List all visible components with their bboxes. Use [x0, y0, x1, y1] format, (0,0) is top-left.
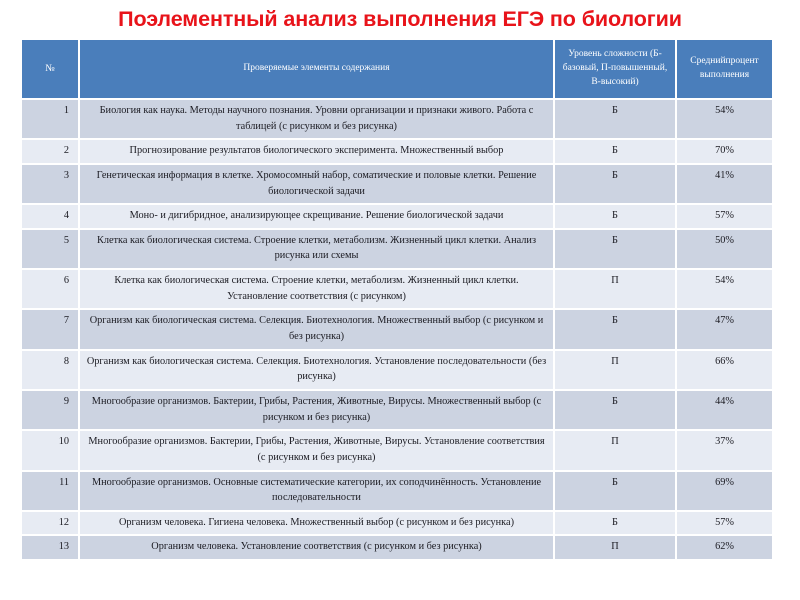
average-percent-cell: 54%: [677, 100, 772, 138]
table-row: 13Организм человека. Установление соотве…: [22, 536, 772, 559]
row-number-cell: 10: [22, 431, 78, 469]
difficulty-level-cell: Б: [555, 165, 675, 203]
table-body: 1Биология как наука. Методы научного поз…: [22, 100, 772, 559]
average-percent-cell: 44%: [677, 391, 772, 429]
content-element-cell: Прогнозирование результатов биологическо…: [80, 140, 553, 163]
analysis-table-container: № Проверяемые элементы содержания Уровен…: [20, 38, 772, 561]
table-row: 3Генетическая информация в клетке. Хромо…: [22, 165, 772, 203]
content-element-cell: Генетическая информация в клетке. Хромос…: [80, 165, 553, 203]
row-number-cell: 7: [22, 310, 78, 348]
average-percent-cell: 50%: [677, 230, 772, 268]
column-header-difficulty-level: Уровень сложности (Б-базовый, П-повышенн…: [555, 40, 675, 98]
row-number-cell: 8: [22, 351, 78, 389]
content-element-cell: Многообразие организмов. Бактерии, Грибы…: [80, 391, 553, 429]
row-number-cell: 2: [22, 140, 78, 163]
table-row: 5Клетка как биологическая система. Строе…: [22, 230, 772, 268]
content-element-cell: Многообразие организмов. Основные систем…: [80, 472, 553, 510]
column-header-content-elements: Проверяемые элементы содержания: [80, 40, 553, 98]
page-title: Поэлементный анализ выполнения ЕГЭ по би…: [0, 0, 800, 32]
difficulty-level-cell: Б: [555, 310, 675, 348]
average-percent-cell: 57%: [677, 512, 772, 535]
row-number-cell: 11: [22, 472, 78, 510]
content-element-cell: Организм человека. Гигиена человека. Мно…: [80, 512, 553, 535]
content-element-cell: Клетка как биологическая система. Строен…: [80, 270, 553, 308]
table-row: 2Прогнозирование результатов биологическ…: [22, 140, 772, 163]
average-percent-cell: 57%: [677, 205, 772, 228]
row-number-cell: 5: [22, 230, 78, 268]
table-row: 6Клетка как биологическая система. Строе…: [22, 270, 772, 308]
row-number-cell: 3: [22, 165, 78, 203]
average-percent-cell: 37%: [677, 431, 772, 469]
analysis-table: № Проверяемые элементы содержания Уровен…: [20, 38, 774, 561]
average-percent-cell: 41%: [677, 165, 772, 203]
difficulty-level-cell: Б: [555, 512, 675, 535]
row-number-cell: 1: [22, 100, 78, 138]
difficulty-level-cell: Б: [555, 140, 675, 163]
difficulty-level-cell: Б: [555, 230, 675, 268]
content-element-cell: Организм как биологическая система. Селе…: [80, 351, 553, 389]
table-header-row: № Проверяемые элементы содержания Уровен…: [22, 40, 772, 98]
average-percent-cell: 47%: [677, 310, 772, 348]
table-row: 7Организм как биологическая система. Сел…: [22, 310, 772, 348]
column-header-average-percent: Среднийпроцент выполнения: [677, 40, 772, 98]
row-number-cell: 9: [22, 391, 78, 429]
table-row: 9Многообразие организмов. Бактерии, Гриб…: [22, 391, 772, 429]
table-row: 1Биология как наука. Методы научного поз…: [22, 100, 772, 138]
column-header-number: №: [22, 40, 78, 98]
content-element-cell: Многообразие организмов. Бактерии, Грибы…: [80, 431, 553, 469]
table-row: 8Организм как биологическая система. Сел…: [22, 351, 772, 389]
table-row: 12Организм человека. Гигиена человека. М…: [22, 512, 772, 535]
table-row: 4Моно- и дигибридное, анализирующее скре…: [22, 205, 772, 228]
average-percent-cell: 62%: [677, 536, 772, 559]
content-element-cell: Клетка как биологическая система. Строен…: [80, 230, 553, 268]
difficulty-level-cell: Б: [555, 391, 675, 429]
row-number-cell: 4: [22, 205, 78, 228]
slide-root: Поэлементный анализ выполнения ЕГЭ по би…: [0, 0, 800, 600]
table-row: 10Многообразие организмов. Бактерии, Гри…: [22, 431, 772, 469]
difficulty-level-cell: Б: [555, 472, 675, 510]
average-percent-cell: 69%: [677, 472, 772, 510]
average-percent-cell: 66%: [677, 351, 772, 389]
difficulty-level-cell: Б: [555, 205, 675, 228]
average-percent-cell: 54%: [677, 270, 772, 308]
difficulty-level-cell: П: [555, 431, 675, 469]
content-element-cell: Организм как биологическая система. Селе…: [80, 310, 553, 348]
table-header: № Проверяемые элементы содержания Уровен…: [22, 40, 772, 98]
table-row: 11Многообразие организмов. Основные сист…: [22, 472, 772, 510]
row-number-cell: 13: [22, 536, 78, 559]
difficulty-level-cell: П: [555, 270, 675, 308]
difficulty-level-cell: Б: [555, 100, 675, 138]
row-number-cell: 12: [22, 512, 78, 535]
difficulty-level-cell: П: [555, 536, 675, 559]
content-element-cell: Организм человека. Установление соответс…: [80, 536, 553, 559]
content-element-cell: Биология как наука. Методы научного позн…: [80, 100, 553, 138]
average-percent-cell: 70%: [677, 140, 772, 163]
content-element-cell: Моно- и дигибридное, анализирующее скрещ…: [80, 205, 553, 228]
row-number-cell: 6: [22, 270, 78, 308]
difficulty-level-cell: П: [555, 351, 675, 389]
